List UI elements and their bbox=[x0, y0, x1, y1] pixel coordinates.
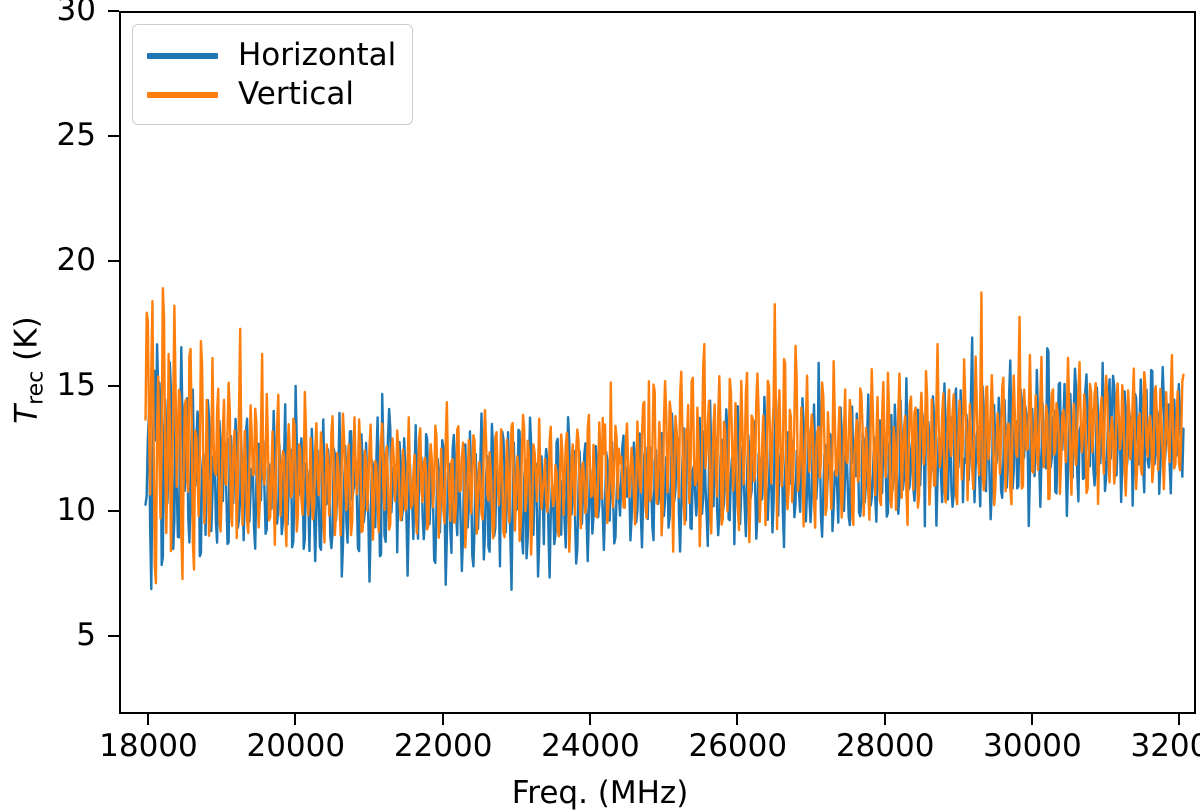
x-tick-mark bbox=[1178, 714, 1180, 725]
y-tick-mark bbox=[108, 385, 119, 387]
legend-swatch-icon bbox=[147, 53, 218, 59]
y-axis-label-unit: (K) bbox=[8, 316, 44, 370]
x-tick-mark bbox=[736, 714, 738, 725]
legend-label: Horizontal bbox=[238, 40, 396, 71]
y-axis-label-subscript: rec bbox=[24, 371, 49, 405]
figure-canvas: 51015202530 1800020000220002400026000280… bbox=[0, 0, 1200, 812]
x-tick-mark bbox=[589, 714, 591, 725]
y-tick-mark bbox=[108, 10, 119, 12]
x-tick-mark bbox=[147, 714, 149, 725]
x-tick-mark bbox=[442, 714, 444, 725]
y-axis-label: Trec (K) bbox=[8, 19, 48, 722]
x-tick-label: 32000 bbox=[1080, 731, 1200, 762]
legend-box: HorizontalVertical bbox=[132, 24, 413, 125]
y-axis-label-symbol: T bbox=[8, 405, 44, 424]
x-tick-mark bbox=[294, 714, 296, 725]
legend-item-horizontal[interactable]: Horizontal bbox=[133, 36, 412, 75]
y-tick-mark bbox=[108, 135, 119, 137]
series-group bbox=[146, 288, 1184, 590]
y-tick-mark bbox=[108, 260, 119, 262]
y-tick-mark bbox=[108, 635, 119, 637]
x-axis-label: Freq. (MHz) bbox=[0, 775, 1200, 811]
legend-item-vertical[interactable]: Vertical bbox=[133, 75, 412, 114]
x-tick-mark bbox=[884, 714, 886, 725]
legend-swatch-icon bbox=[147, 92, 218, 98]
series-line-vertical bbox=[146, 288, 1184, 583]
y-tick-mark bbox=[108, 510, 119, 512]
legend-label: Vertical bbox=[238, 79, 354, 110]
x-tick-mark bbox=[1031, 714, 1033, 725]
